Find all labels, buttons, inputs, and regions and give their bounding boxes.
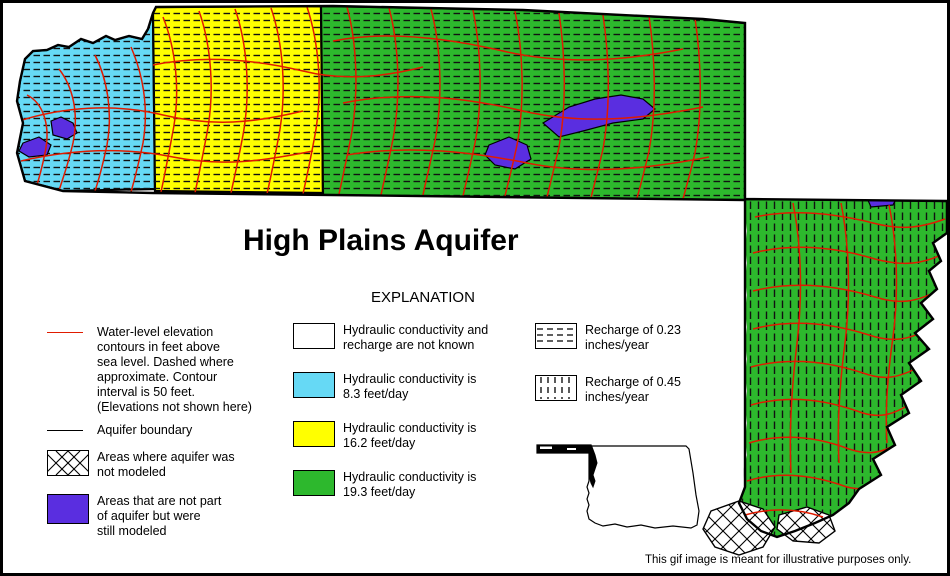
crosshatch-swatch-icon — [47, 450, 89, 476]
aquifer-map-page: High Plains Aquifer EXPLANATION Water-le… — [0, 0, 950, 576]
horizontal-dash-swatch-icon — [535, 323, 577, 349]
legend-label: Hydraulic conductivity is 16.2 feet/day — [343, 421, 476, 451]
black-boundary-line-icon — [47, 430, 83, 431]
white-swatch-icon — [293, 323, 335, 349]
legend-item-aquifer-boundary: Aquifer boundary — [47, 423, 287, 438]
legend-label: Hydraulic conductivity is 8.3 feet/day — [343, 372, 476, 402]
purple-swatch-icon — [47, 494, 89, 524]
disclaimer-text: This gif image is meant for illustrative… — [645, 554, 911, 566]
legend-item-conductivity-8-3: Hydraulic conductivity is 8.3 feet/day — [293, 372, 533, 402]
legend-item-conductivity-16-2: Hydraulic conductivity is 16.2 feet/day — [293, 421, 533, 451]
legend-label: Recharge of 0.23 inches/year — [585, 323, 681, 353]
legend-label: Hydraulic conductivity and recharge are … — [343, 323, 488, 353]
explanation-heading: EXPLANATION — [371, 289, 475, 306]
legend-swatch-wrap — [293, 470, 343, 496]
legend-swatch-wrap — [535, 375, 585, 401]
legend-item-contour-lines: Water-level elevation contours in feet a… — [47, 325, 287, 415]
legend-item-conductivity-19-3: Hydraulic conductivity is 19.3 feet/day — [293, 470, 533, 500]
legend-label: Recharge of 0.45 inches/year — [585, 375, 681, 405]
page-title: High Plains Aquifer — [243, 224, 519, 258]
legend-item-not-part-of-aquifer: Areas that are not part of aquifer but w… — [47, 494, 287, 539]
oklahoma-locator-map — [523, 433, 723, 533]
legend-item-recharge-0-23: Recharge of 0.23 inches/year — [535, 323, 745, 353]
map-zone-yellow — [153, 6, 323, 193]
legend-column-conductivity: Hydraulic conductivity and recharge are … — [293, 323, 533, 500]
legend-swatch-wrap — [47, 494, 97, 524]
vertical-dash-swatch-icon — [535, 375, 577, 401]
legend-swatch-wrap — [47, 450, 97, 476]
legend-label: Areas where aquifer was not modeled — [97, 450, 235, 480]
legend-swatch-wrap — [293, 372, 343, 398]
cyan-swatch-icon — [293, 372, 335, 398]
legend-swatch-wrap — [535, 323, 585, 349]
green-swatch-icon — [293, 470, 335, 496]
legend-item-not-modeled: Areas where aquifer was not modeled — [47, 450, 287, 480]
legend-swatch-wrap — [293, 323, 343, 349]
legend-item-not-known: Hydraulic conductivity and recharge are … — [293, 323, 533, 353]
legend-swatch-wrap — [47, 423, 97, 431]
legend-column-contours: Water-level elevation contours in feet a… — [47, 325, 287, 539]
yellow-swatch-icon — [293, 421, 335, 447]
legend-label: Areas that are not part of aquifer but w… — [97, 494, 221, 539]
legend-column-recharge: Recharge of 0.23 inches/year — [535, 323, 745, 405]
legend-swatch-wrap — [47, 325, 97, 333]
legend-swatch-wrap — [293, 421, 343, 447]
legend-label: Hydraulic conductivity is 19.3 feet/day — [343, 470, 476, 500]
legend-label: Water-level elevation contours in feet a… — [97, 325, 252, 415]
red-contour-line-icon — [47, 332, 83, 333]
legend-item-recharge-0-45: Recharge of 0.45 inches/year — [535, 375, 745, 405]
legend-label: Aquifer boundary — [97, 423, 192, 438]
